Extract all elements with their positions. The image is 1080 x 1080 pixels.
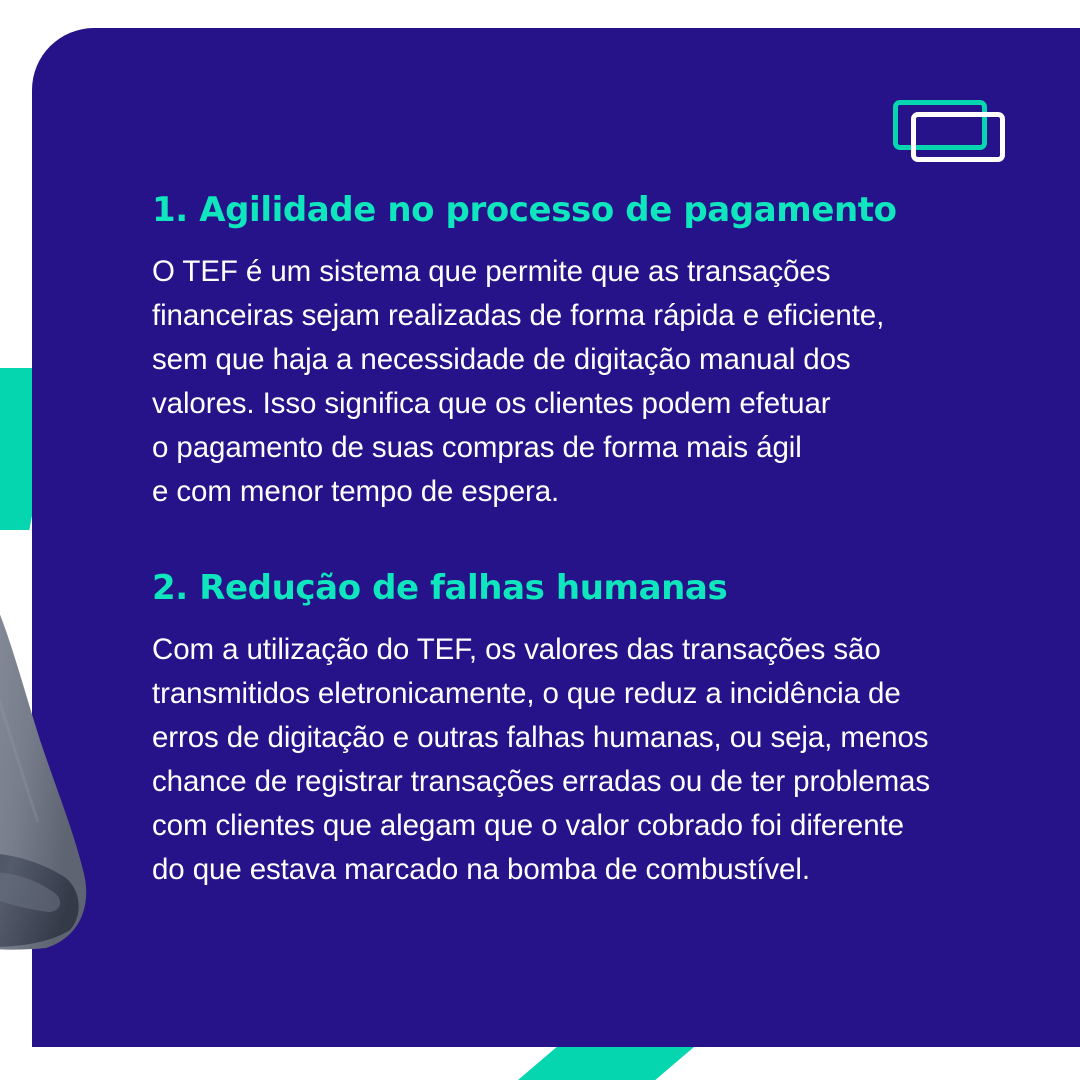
section-1: 1. Agilidade no processo de pagamento O … <box>152 190 1032 514</box>
card-terminal-icon <box>893 100 1005 162</box>
section-2-heading: 2. Redução de falhas humanas <box>152 568 1032 608</box>
section-2-body: Com a utilização do TEF, os valores das … <box>152 628 1032 892</box>
slide-canvas: 1. Agilidade no processo de pagamento O … <box>0 0 1080 1080</box>
card-icon-front-rect <box>911 112 1005 162</box>
section-1-body: O TEF é um sistema que permite que as tr… <box>152 250 1032 514</box>
section-2: 2. Redução de falhas humanas Com a utili… <box>152 568 1032 892</box>
section-1-heading: 1. Agilidade no processo de pagamento <box>152 190 1032 230</box>
person-photo <box>0 556 100 952</box>
teal-accent-bottom-icon <box>518 1047 694 1080</box>
text-content: 1. Agilidade no processo de pagamento O … <box>152 190 1032 892</box>
